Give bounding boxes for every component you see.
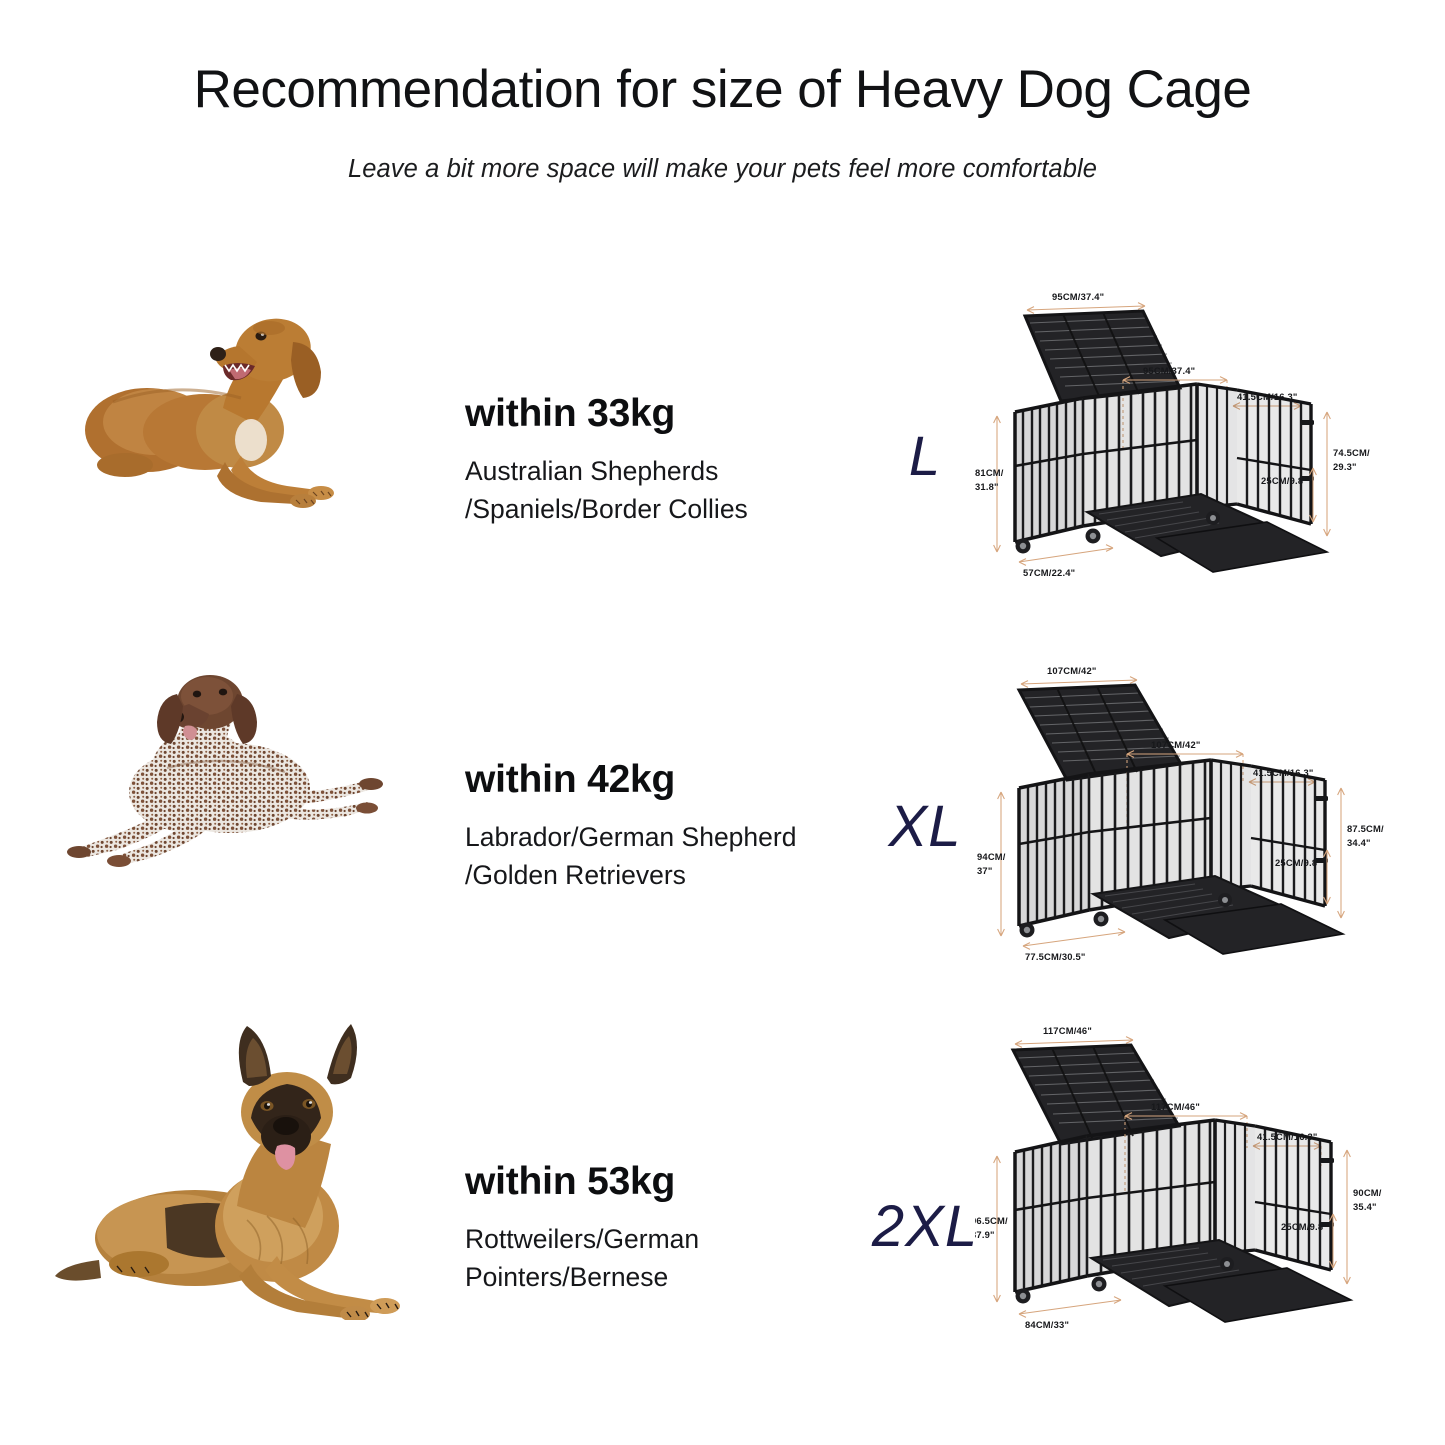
dim-door-height-text: 25CM/9.8" bbox=[1281, 1221, 1328, 1232]
header: Recommendation for size of Heavy Dog Cag… bbox=[0, 0, 1445, 184]
dim-height-left-inch: 37" bbox=[977, 865, 992, 876]
dim-door-height-text: 25CM/9.8" bbox=[1275, 857, 1322, 868]
dim-height-right-text: 87.5CM/ bbox=[1347, 823, 1384, 834]
breed-line-2: /Golden Retrievers bbox=[465, 857, 855, 895]
dim-base-depth-text: 77.5CM/30.5" bbox=[1025, 951, 1086, 962]
size-text-cell: within 53kg Rottweilers/German Pointers/… bbox=[465, 1020, 855, 1360]
breed-list: Rottweilers/German Pointers/Bernese bbox=[465, 1221, 855, 1296]
dim-height-left-inch: 31.8" bbox=[975, 481, 999, 492]
dim-base-depth: 77.5CM/30.5" bbox=[1023, 929, 1125, 962]
dog-illustration-red-brown-hound bbox=[55, 280, 355, 510]
weight-label: within 42kg bbox=[465, 758, 855, 802]
dim-base-depth: 84CM/33" bbox=[1019, 1297, 1121, 1330]
cage-door bbox=[1255, 1126, 1334, 1270]
breed-list: Labrador/German Shepherd /Golden Retriev… bbox=[465, 819, 855, 894]
dog-photo-cell bbox=[55, 660, 445, 990]
cage-diagram-XL: 107CM/42" bbox=[975, 660, 1415, 980]
dog-illustration-german-shepherd bbox=[55, 1020, 425, 1320]
dim-height-right-inch: 34.4" bbox=[1347, 837, 1371, 848]
dog-photo-cell bbox=[55, 280, 445, 610]
size-row-L: within 33kg Australian Shepherds /Spanie… bbox=[0, 280, 1445, 610]
dim-height-left: 94CM/ 37" bbox=[977, 792, 1006, 936]
dim-base-depth-text: 57CM/22.4" bbox=[1023, 567, 1075, 578]
breed-line-2: /Spaniels/Border Collies bbox=[465, 491, 855, 529]
page-subtitle: Leave a bit more space will make your pe… bbox=[0, 155, 1445, 184]
breed-line-1: Australian Shepherds bbox=[465, 453, 855, 491]
cage-diagram-cell: 107CM/42" bbox=[975, 660, 1445, 990]
dim-top-width: 95CM/37.4" bbox=[1027, 291, 1145, 313]
cage-door bbox=[1237, 390, 1314, 524]
dim-base-depth: 57CM/22.4" bbox=[1019, 545, 1113, 578]
dim-top-width-text: 117CM/46" bbox=[1043, 1025, 1092, 1036]
weight-label: within 33kg bbox=[465, 392, 855, 436]
dim-height-right-text: 90CM/ bbox=[1353, 1187, 1382, 1198]
cage-diagram-cell: 117CM/46" bbox=[975, 1020, 1445, 1360]
size-text-cell: within 42kg Labrador/German Shepherd /Go… bbox=[465, 660, 855, 990]
breed-line-1: Rottweilers/German bbox=[465, 1221, 855, 1259]
size-row-2XL: within 53kg Rottweilers/German Pointers/… bbox=[0, 1020, 1445, 1360]
dim-door-height-text: 25CM/9.8" bbox=[1261, 475, 1308, 486]
dim-height-left-text: 94CM/ bbox=[977, 851, 1006, 862]
cage-diagram-cell: 95CM/37.4" bbox=[975, 280, 1445, 610]
dim-top-width: 107CM/42" bbox=[1021, 665, 1137, 687]
dim-top-width-text: 95CM/37.4" bbox=[1052, 291, 1104, 302]
size-text-cell: within 33kg Australian Shepherds /Spanie… bbox=[465, 280, 855, 610]
dim-height-left-inch: 37.9" bbox=[975, 1229, 995, 1240]
dim-top-depth-text: 95CM/37.4" bbox=[1143, 365, 1195, 376]
dim-height-left: 81CM/ 31.8" bbox=[975, 416, 1004, 552]
dim-height-left: 96.5CM/ 37.9" bbox=[975, 1156, 1008, 1302]
dim-height-right: 74.5CM/ 29.3" bbox=[1324, 412, 1370, 536]
dim-top-depth-text: 107CM/42" bbox=[1151, 739, 1201, 750]
dog-photo-cell bbox=[55, 1020, 445, 1360]
dim-base-depth-text: 84CM/33" bbox=[1025, 1319, 1069, 1330]
breed-line-1: Labrador/German Shepherd bbox=[465, 819, 855, 857]
dim-height-right-text: 74.5CM/ bbox=[1333, 447, 1370, 458]
dog-illustration-german-shorthaired-pointer bbox=[55, 660, 385, 880]
dim-top-width-text: 107CM/42" bbox=[1047, 665, 1097, 676]
dim-height-left-text: 96.5CM/ bbox=[975, 1215, 1008, 1226]
dim-height-right-inch: 35.4" bbox=[1353, 1201, 1377, 1212]
dim-top-depth-text: 117CM/46" bbox=[1151, 1101, 1200, 1112]
breed-line-2: Pointers/Bernese bbox=[465, 1259, 855, 1297]
dim-height-right: 87.5CM/ 34.4" bbox=[1338, 788, 1384, 918]
dim-height-left-text: 81CM/ bbox=[975, 467, 1004, 478]
dim-height-right-inch: 29.3" bbox=[1333, 461, 1357, 472]
cage-diagram-L: 95CM/37.4" bbox=[975, 280, 1415, 600]
size-row-XL: within 42kg Labrador/German Shepherd /Go… bbox=[0, 660, 1445, 990]
cage-diagram-2XL: 117CM/46" bbox=[975, 1020, 1415, 1350]
dim-height-right: 90CM/ 35.4" bbox=[1344, 1150, 1382, 1284]
cage-door bbox=[1251, 766, 1328, 906]
infographic-page: Recommendation for size of Heavy Dog Cag… bbox=[0, 0, 1445, 1445]
page-title: Recommendation for size of Heavy Dog Cag… bbox=[0, 62, 1445, 118]
weight-label: within 53kg bbox=[465, 1160, 855, 1204]
breed-list: Australian Shepherds /Spaniels/Border Co… bbox=[465, 453, 855, 528]
dim-top-width: 117CM/46" bbox=[1015, 1025, 1133, 1047]
